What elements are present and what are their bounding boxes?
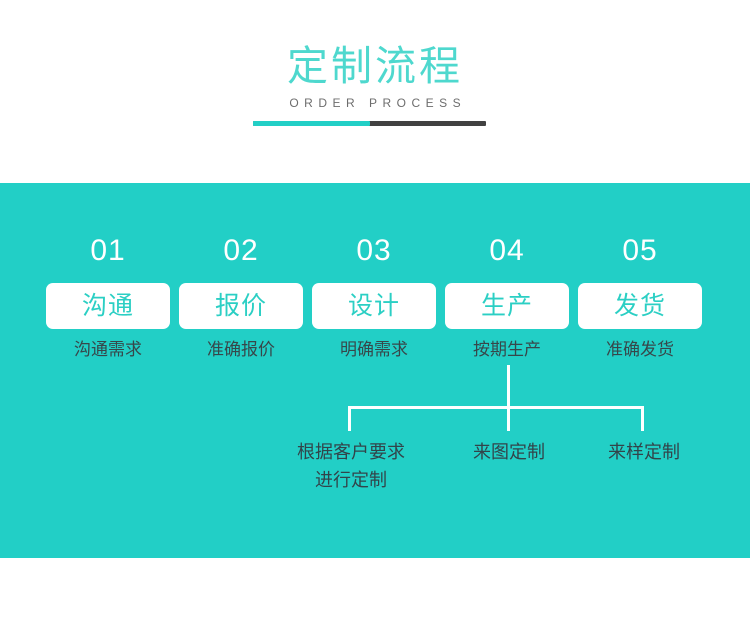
footer-spacer xyxy=(0,558,750,632)
step-box[interactable]: 设计 xyxy=(312,283,436,329)
custom-option-by-sample: 来样定制 xyxy=(578,438,710,466)
step-box[interactable]: 发货 xyxy=(578,283,702,329)
step-number: 04 xyxy=(445,234,569,268)
step-box-label: 设计 xyxy=(312,283,436,329)
step-number: 05 xyxy=(578,234,702,268)
custom-option-line-1: 来样定制 xyxy=(578,438,710,466)
custom-option-line-1: 来图定制 xyxy=(443,438,575,466)
step-box[interactable]: 生产 xyxy=(445,283,569,329)
step-box[interactable]: 报价 xyxy=(179,283,303,329)
process-panel: 01 沟通 沟通需求 02 报价 准确报价 03 设计 明确需求 04 生产 按… xyxy=(0,183,750,558)
step-box[interactable]: 沟通 xyxy=(46,283,170,329)
custom-option-requirement: 根据客户要求 进行定制 xyxy=(270,438,432,494)
custom-option-line-1: 根据客户要求 xyxy=(270,438,432,466)
title-underline xyxy=(253,121,486,126)
page-header: 定制流程 ORDER PROCESS xyxy=(0,0,750,183)
step-number: 03 xyxy=(312,234,436,268)
connector-horizontal-bar xyxy=(348,406,644,409)
step-box-label: 发货 xyxy=(578,283,702,329)
step-number: 01 xyxy=(46,234,170,268)
step-caption: 沟通需求 xyxy=(36,338,180,362)
step-caption: 按期生产 xyxy=(435,338,579,362)
step-caption: 准确发货 xyxy=(568,338,712,362)
step-box-label: 报价 xyxy=(179,283,303,329)
step-box-label: 沟通 xyxy=(46,283,170,329)
connector-drop-right xyxy=(641,406,644,431)
custom-option-line-2: 进行定制 xyxy=(270,466,432,494)
page-subtitle: ORDER PROCESS xyxy=(0,95,750,111)
connector-stem-vertical xyxy=(507,365,510,408)
page-title: 定制流程 xyxy=(0,42,750,90)
step-caption: 明确需求 xyxy=(302,338,446,362)
connector-drop-middle xyxy=(507,406,510,431)
step-caption: 准确报价 xyxy=(169,338,313,362)
step-number: 02 xyxy=(179,234,303,268)
title-underline-accent xyxy=(253,121,370,126)
custom-option-by-drawing: 来图定制 xyxy=(443,438,575,466)
step-box-label: 生产 xyxy=(445,283,569,329)
connector-drop-left xyxy=(348,406,351,431)
